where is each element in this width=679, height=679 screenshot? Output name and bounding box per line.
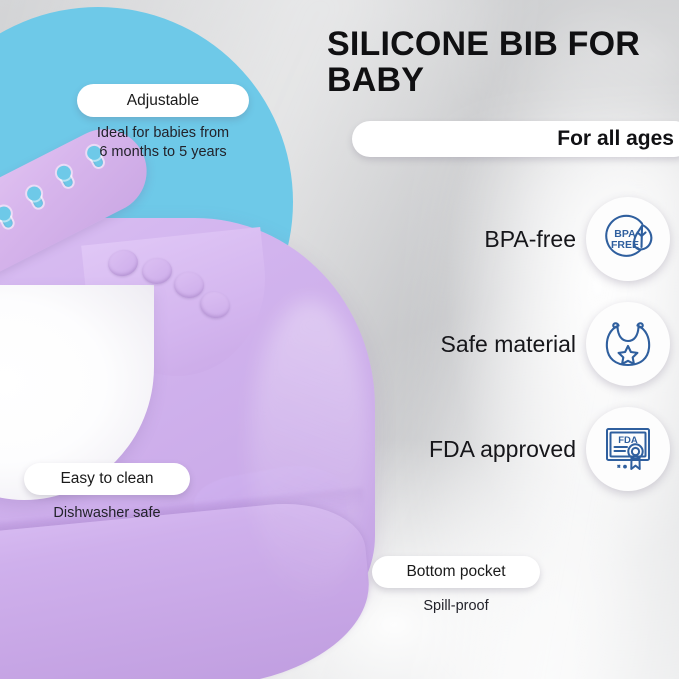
callout-bottom-pocket-pill: Bottom pocket <box>372 556 540 588</box>
product-infographic: SILICONE BIB FOR BABY For all ages BPA-f… <box>0 0 679 679</box>
feature-label: Safe material <box>440 331 576 358</box>
strap-snap-hole <box>58 167 75 188</box>
strap-snap-hole <box>0 208 14 229</box>
callout-adjustable-pill: Adjustable <box>77 84 249 117</box>
callout-easy-clean-label: Easy to clean <box>60 470 153 488</box>
feature-bpa-free: BPA-free BPA FREE <box>330 196 670 282</box>
feature-fda-approved: FDA approved FDA <box>330 406 670 492</box>
bpa-free-icon: BPA FREE <box>586 197 670 281</box>
callout-bottom-pocket-subtitle: Spill-proof <box>372 597 540 616</box>
fda-certificate-icon: FDA <box>586 407 670 491</box>
page-title: SILICONE BIB FOR BABY <box>327 26 679 99</box>
bib-star-icon <box>586 302 670 386</box>
callout-adjustable-label: Adjustable <box>127 92 199 110</box>
callout-adjustable-subtitle: Ideal for babies from 6 months to 5 year… <box>57 124 269 161</box>
callout-bottom-pocket-label: Bottom pocket <box>406 563 505 581</box>
strap-snap-hole <box>28 188 45 209</box>
callout-easy-clean-pill: Easy to clean <box>24 463 190 495</box>
callout-easy-clean-subtitle: Dishwasher safe <box>14 504 200 523</box>
feature-safe-material: Safe material <box>330 301 670 387</box>
tagline-pill: For all ages <box>352 121 679 157</box>
feature-label: BPA-free <box>484 226 576 253</box>
feature-label: FDA approved <box>429 436 576 463</box>
svg-text:FREE: FREE <box>611 239 639 251</box>
tagline-label: For all ages <box>557 127 674 151</box>
